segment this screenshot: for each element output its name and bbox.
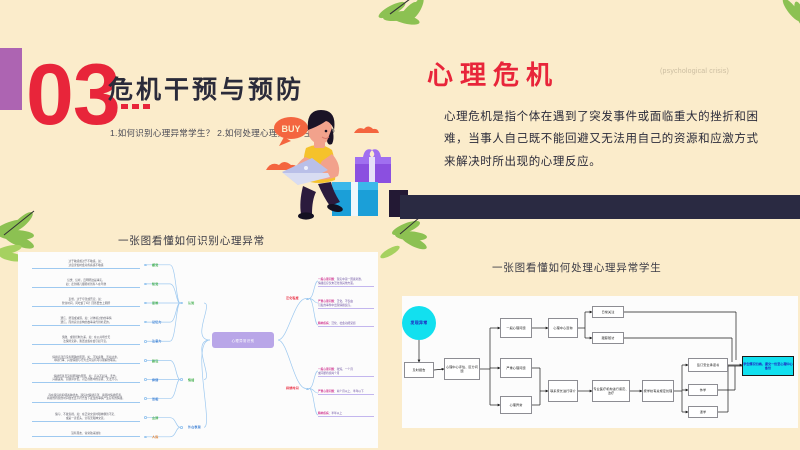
- mindmap-leaf-tag: 知觉: [152, 282, 158, 286]
- mindmap-right-leaf: 一般心理问题：较短，一个月或间断持续两个月: [318, 368, 374, 377]
- mindmap-node-dot: [306, 298, 309, 301]
- mindmap-node-dot: [180, 426, 183, 429]
- mindmap-right-leaf: 严重心理问题：泛化，不仅由引发的事件中出现情绪反应。: [318, 300, 374, 309]
- flowchart-node-severe: 严重心理问题: [500, 358, 532, 378]
- mindmap-leaf-desc: 涣散、或者控制力差，如：在公共场合无 法保持安静，我置这些在会引起不安。: [32, 336, 140, 345]
- mindmap-node-dot: [180, 302, 183, 305]
- mindmap-node-dot: [144, 283, 147, 286]
- mindmap-node-dot: [144, 436, 147, 439]
- mindmap-leaf-desc: 偏习、不敢直视，如：在正常交谈时眼神飘忽不定、 或是一直低头、全程无眼神交流。: [32, 413, 140, 422]
- mindmap-right-leaf: 精神疾病：半年以上: [318, 412, 374, 417]
- flowchart-node-school-rule: 按学校有关规定处理: [642, 380, 674, 402]
- mindmap-right-branch-tag: 持续时间: [286, 386, 299, 390]
- mindmap-leaf-desc: 没有朋友、常常独来独往: [32, 432, 140, 437]
- flowchart-card: 发现异常及时报告心理中心评估、区分问题一般心理问题严重心理问题心理异常心理中心咨…: [402, 296, 798, 428]
- illustration-woman-with-laptop: BUY: [258, 100, 408, 222]
- flowchart-node-followup: 跟踪随访: [592, 332, 624, 344]
- mindmap-leaf-tag: 人际: [152, 435, 158, 439]
- flowchart-end-node: 学生情况归档，提交一份至心理中心备份: [742, 356, 794, 376]
- leaf-decoration-left-card: [378, 240, 412, 270]
- navy-divider-bar: [400, 195, 800, 219]
- mindmap-leaf-tag: 记忆力: [152, 320, 162, 324]
- mindmap-leaf-tag: 言辞: [152, 416, 158, 420]
- flowchart-node-safety-letter: 签订安全承诺书: [688, 358, 728, 372]
- mindmap-node-dot: [144, 340, 147, 343]
- leaf-decoration-top-right: [770, 0, 800, 34]
- flowchart-diagram: 发现异常及时报告心理中心评估、区分问题一般心理问题严重心理问题心理异常心理中心咨…: [402, 296, 798, 428]
- mindmap-leaf-desc: 遗忘、增强或减弱，如：对体验过的的事情 遗忘，而用完全虚构的故事来代替补足的。: [32, 317, 140, 326]
- mindmap-node-dot: [144, 397, 147, 400]
- mindmap-leaf-desc: 情绪高涨且没有明确的原因，如：不知疲惫、活动过重， 冲动行事、兴奋情绪与行为之间…: [32, 356, 140, 365]
- right-panel-body-text: 心理危机是指个体在遇到了突发事件或面临重大的挫折和困难，当事人自己既不能回避又无…: [444, 106, 769, 173]
- mindmap-leaf-desc: 情绪低落且没有明确的原因，如：高兴不起来、悲伤， 兴趣丧失、自我评价低，对正在做…: [32, 375, 140, 384]
- svg-text:BUY: BUY: [281, 124, 300, 134]
- title-dots-decoration: [110, 104, 150, 109]
- mindmap-hub-node: 心理异常识别: [212, 332, 274, 348]
- mindmap-leaf-desc: 幻觉、幻听，且明明这是事实， 如：走到哪儿都能听到有人在骂他: [32, 279, 140, 288]
- flowchart-node-general: 一般心理问题: [500, 318, 532, 338]
- mindmap-leaf-desc: 过于敏感或过于不敏感，如： 过度害怕时会对疼痛感不敏感: [32, 260, 140, 269]
- mindmap-right-leaf: 严重心理问题：两个月以上、半年以下: [318, 390, 374, 395]
- mindmap-caption: 一张图看懂如何识别心理异常: [118, 233, 265, 248]
- mindmap-leaf-tag: 思维: [152, 301, 158, 305]
- slide-root: 03 危机干预与预防 1.如何识别心理异常学生？ 2.如何处理心理异常学生情况？…: [0, 0, 800, 450]
- mindmap-branch-tag: 情绪: [188, 378, 194, 382]
- mindmap-node-dot: [144, 378, 147, 381]
- mindmap-leaf-tag: 双相: [152, 397, 158, 401]
- mindmap-right-branch-tag: 泛化程度: [286, 296, 299, 300]
- flowchart-node-counseling: 心理中心咨询: [548, 318, 578, 338]
- mindmap-node-dot: [144, 264, 147, 267]
- mindmap-node-dot: [144, 302, 147, 305]
- mindmap-leaf-desc: 存在躁狂和抑郁两种状态，躁狂时情绪高涨、抑郁时情绪低落， 两者的持续的时间较长且…: [32, 394, 140, 403]
- mindmap-diagram: 过于敏感或过于不敏感，如： 过度害怕时会对疼痛感不敏感感觉幻觉、幻听，且明明这是…: [18, 252, 378, 448]
- flowchart-node-contact-parent: 联系家长进行转介: [548, 380, 578, 402]
- mindmap-node-dot: [144, 416, 147, 419]
- flowchart-node-abnormal: 心理异常: [500, 396, 532, 414]
- flowchart-start-node: 发现异常: [402, 306, 436, 340]
- mindmap-leaf-tag: 注意力: [152, 339, 162, 343]
- section-number: 03: [26, 52, 120, 138]
- mindmap-leaf-tag: 感觉: [152, 263, 158, 267]
- flowchart-node-medical: 专业医疗机构进行鉴定、治疗: [592, 380, 630, 402]
- flowchart-node-assess: 心理中心评估、区分问题: [444, 358, 480, 380]
- mindmap-card: 过于敏感或过于不敏感，如： 过度害怕时会对疼痛感不敏感感觉幻觉、幻听，且明明这是…: [18, 252, 378, 448]
- mindmap-node-dot: [306, 388, 309, 391]
- mindmap-branch-tag: 认知: [188, 301, 194, 305]
- mindmap-leaf-tag: 躁狂: [152, 359, 158, 363]
- mindmap-right-leaf: 精神疾病：泛化、社会功能受损: [318, 322, 374, 327]
- flowchart-node-daily-care: 日常关注: [592, 306, 624, 318]
- flowchart-node-suspend: 休学: [688, 384, 718, 396]
- flowchart-node-withdraw: 退学: [688, 406, 718, 418]
- right-panel-subtitle-en: (psychological crisis): [660, 68, 729, 75]
- right-panel-title: 心理危机: [427, 55, 559, 92]
- mindmap-leaf-desc: 妄想，过于夸张或否定，如： 管住时间，问吃饭了吗？回答要去上厕所: [32, 298, 140, 307]
- mindmap-right-leaf: 一般心理问题：现实中第一因素刺激，情绪反应仅未泛化到其他方面。: [318, 278, 374, 287]
- leaf-decoration-bottom-left: [0, 205, 72, 255]
- mindmap-node-dot: [144, 359, 147, 362]
- mindmap-node-dot: [180, 378, 183, 381]
- accent-bar-purple: [0, 48, 22, 110]
- mindmap-leaf-tag: 抑郁: [152, 378, 158, 382]
- mindmap-branch-tag: 外在表现: [188, 425, 201, 429]
- leaf-decoration-top: [372, 0, 442, 32]
- flowchart-node-report: 及时报告: [404, 362, 434, 378]
- flowchart-caption: 一张图看懂如何处理心理异常学生: [492, 260, 662, 275]
